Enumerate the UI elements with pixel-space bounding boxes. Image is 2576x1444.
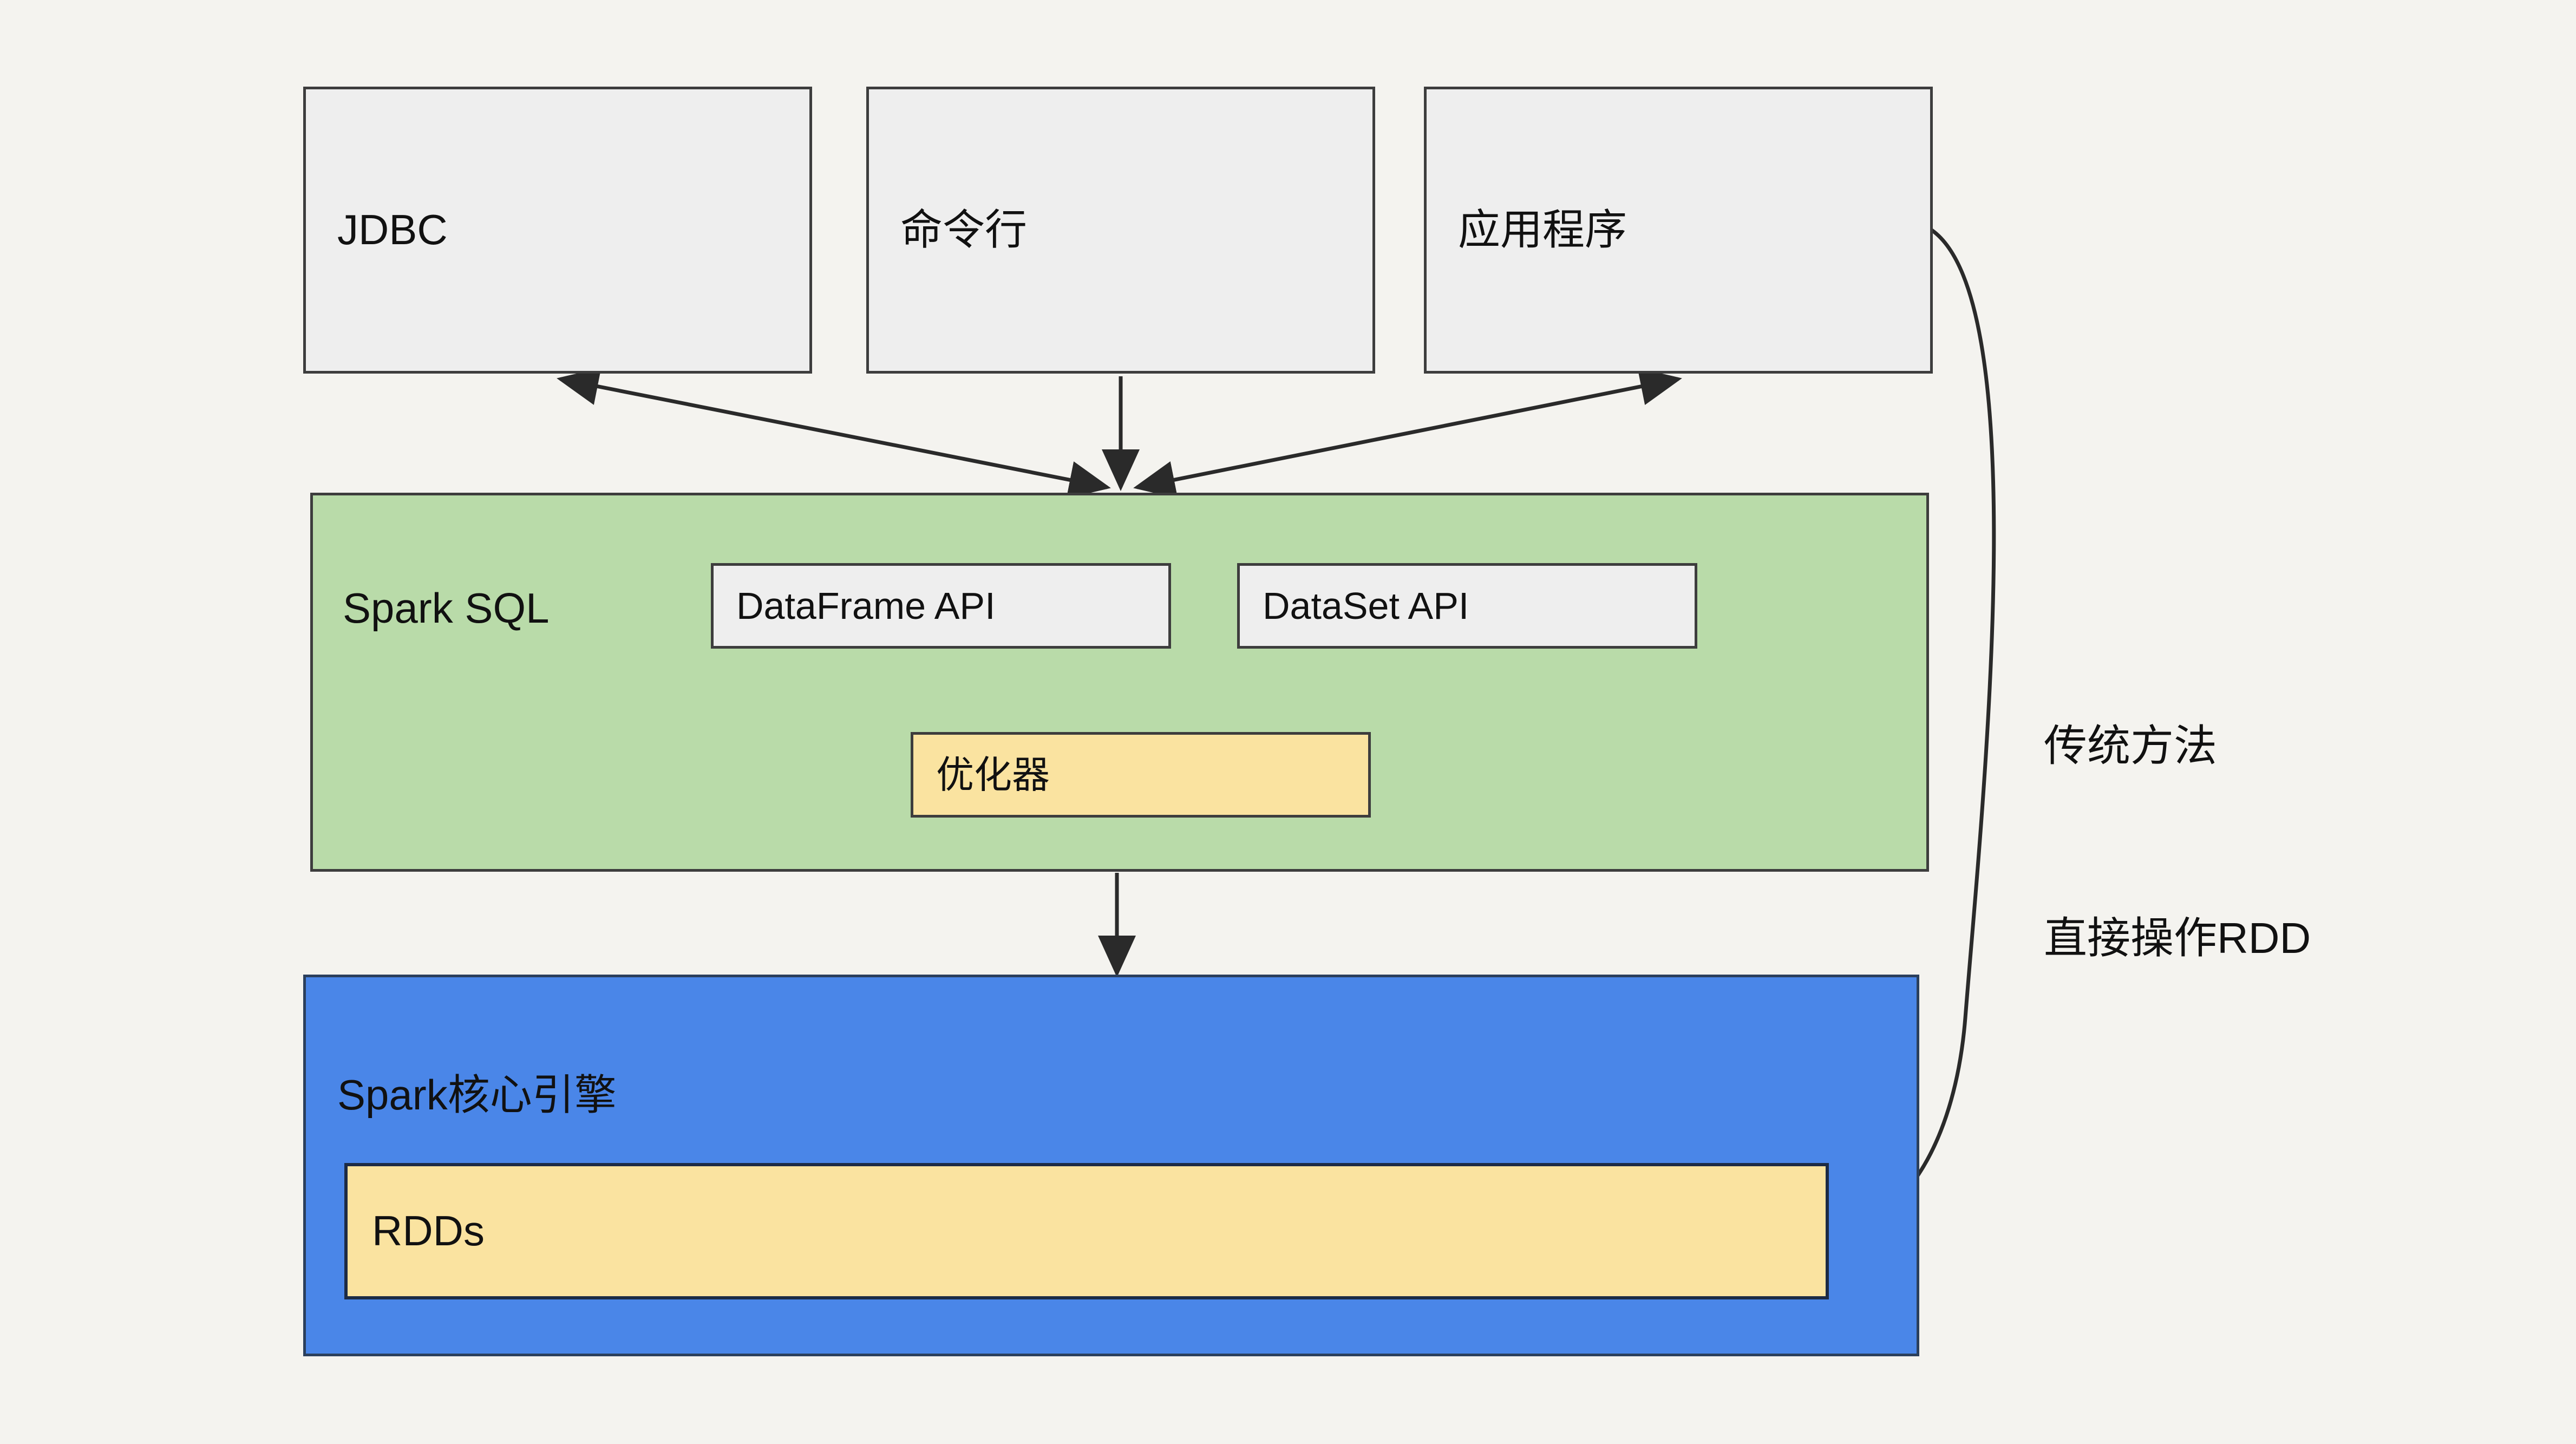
source-box-jdbc[interactable]: JDBC xyxy=(303,87,812,374)
box-rdds-label: RDDs xyxy=(372,1207,485,1256)
box-dataset-api-label: DataSet API xyxy=(1263,584,1469,628)
box-optimizer-label: 优化器 xyxy=(936,753,1050,797)
box-rdds[interactable]: RDDs xyxy=(344,1163,1829,1299)
box-dataframe-api[interactable]: DataFrame API xyxy=(711,563,1171,649)
box-optimizer[interactable]: 优化器 xyxy=(911,732,1371,818)
annotation-legacy-approach: 传统方法 直接操作RDD xyxy=(2044,586,2311,1099)
annotation-legacy-line-2: 直接操作RDD xyxy=(2044,906,2311,970)
source-box-application-label: 应用程序 xyxy=(1458,206,1627,254)
source-box-command-line[interactable]: 命令行 xyxy=(866,87,1375,374)
box-dataframe-api-label: DataFrame API xyxy=(736,584,996,628)
annotation-legacy-line-1: 传统方法 xyxy=(2044,714,2311,778)
box-dataset-api[interactable]: DataSet API xyxy=(1237,563,1697,649)
source-box-command-line-label: 命令行 xyxy=(900,206,1027,254)
edge-jdbc-to-sparksql xyxy=(560,379,1107,487)
source-box-application[interactable]: 应用程序 xyxy=(1424,87,1933,374)
diagram-canvas: JDBC 命令行 应用程序 Spark SQL DataFrame API Da… xyxy=(0,0,2576,1444)
panel-spark-sql-title: Spark SQL xyxy=(343,584,550,633)
panel-spark-core-engine-title: Spark核心引擎 xyxy=(337,1061,617,1122)
edge-app-to-sparksql xyxy=(1137,379,1678,487)
source-box-jdbc-label: JDBC xyxy=(337,206,448,254)
